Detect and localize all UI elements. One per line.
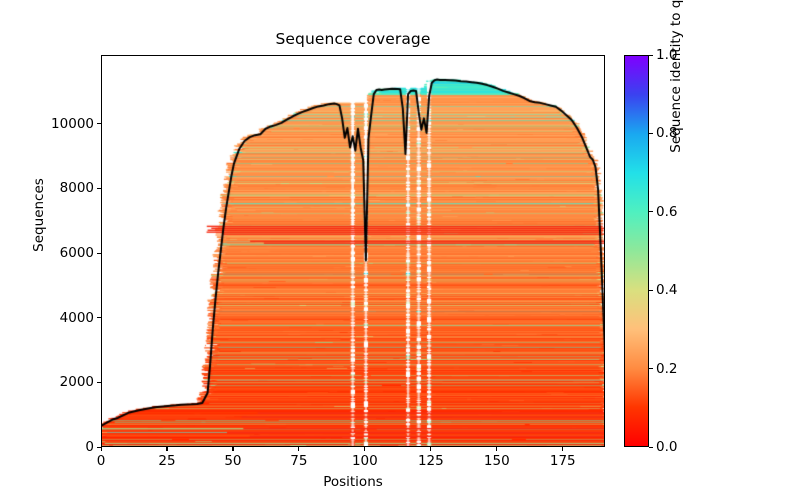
figure-canvas: Sequence coverage 0255075100125150175 02… bbox=[0, 0, 800, 500]
colorbar-tick-mark bbox=[649, 211, 653, 212]
colorbar-tick-mark bbox=[649, 133, 653, 134]
x-tick-label: 175 bbox=[550, 453, 576, 469]
x-tick-mark bbox=[166, 447, 167, 451]
y-tick-label: 6000 bbox=[60, 245, 94, 261]
y-tick-label: 10000 bbox=[51, 116, 94, 132]
colorbar-gradient bbox=[625, 56, 648, 446]
y-tick-mark bbox=[97, 317, 101, 318]
x-tick-label: 150 bbox=[484, 453, 510, 469]
x-tick-mark bbox=[496, 447, 497, 451]
colorbar-tick-label: 0.6 bbox=[656, 204, 677, 220]
colorbar-tick-mark bbox=[649, 368, 653, 369]
x-tick-mark bbox=[430, 447, 431, 451]
colorbar-tick-mark bbox=[649, 290, 653, 291]
x-tick-label: 25 bbox=[158, 453, 175, 469]
x-tick-label: 0 bbox=[97, 453, 106, 469]
x-tick-label: 50 bbox=[224, 453, 241, 469]
colorbar-tick-mark bbox=[649, 447, 653, 448]
y-tick-label: 8000 bbox=[60, 180, 94, 196]
y-tick-mark bbox=[97, 382, 101, 383]
y-axis-label: Sequences bbox=[31, 155, 47, 275]
x-tick-mark bbox=[232, 447, 233, 451]
colorbar[interactable] bbox=[624, 55, 649, 447]
y-tick-mark bbox=[97, 253, 101, 254]
y-tick-mark bbox=[97, 123, 101, 124]
main-plot-area[interactable] bbox=[101, 55, 605, 447]
coverage-line-series bbox=[102, 56, 605, 447]
colorbar-label: Sequence identity to query bbox=[668, 0, 684, 191]
x-tick-mark bbox=[298, 447, 299, 451]
y-tick-mark bbox=[97, 447, 101, 448]
x-tick-label: 100 bbox=[352, 453, 378, 469]
colorbar-tick-label: 0.0 bbox=[656, 439, 677, 455]
colorbar-tick-mark bbox=[649, 55, 653, 56]
y-tick-label: 4000 bbox=[60, 310, 94, 326]
x-tick-label: 125 bbox=[418, 453, 444, 469]
y-tick-label: 0 bbox=[85, 439, 94, 455]
page-title: Sequence coverage bbox=[101, 30, 605, 48]
y-tick-label: 2000 bbox=[60, 374, 94, 390]
colorbar-tick-label: 0.2 bbox=[656, 361, 677, 377]
x-tick-label: 75 bbox=[290, 453, 307, 469]
colorbar-tick-label: 0.4 bbox=[656, 282, 677, 298]
x-tick-mark bbox=[364, 447, 365, 451]
x-axis-label: Positions bbox=[101, 474, 605, 490]
x-tick-mark bbox=[562, 447, 563, 451]
y-tick-mark bbox=[97, 188, 101, 189]
